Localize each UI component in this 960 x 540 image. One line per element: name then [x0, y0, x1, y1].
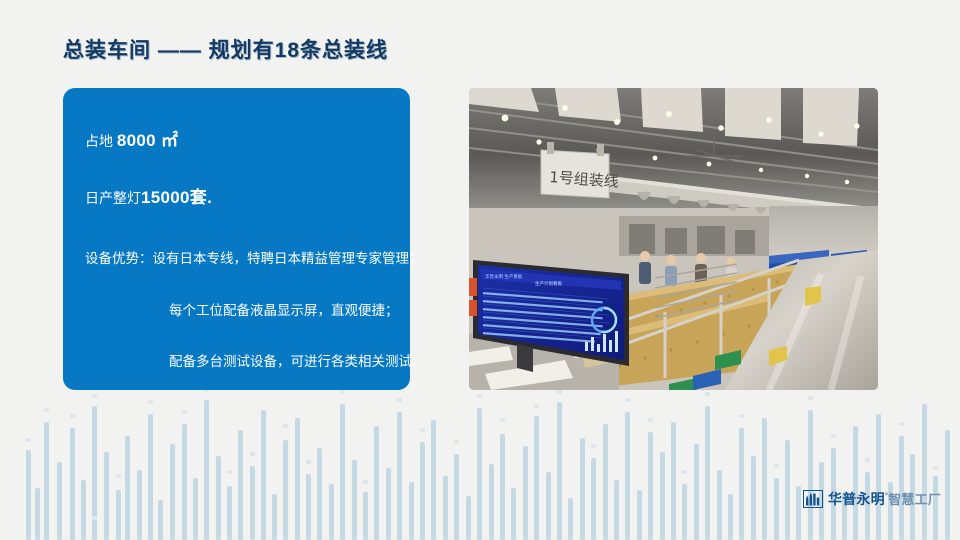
- decor-tick: [591, 444, 596, 448]
- decor-bar: [204, 400, 209, 540]
- decor-bar: [250, 466, 255, 540]
- decor-bar: [374, 426, 379, 540]
- decor-tick: [534, 404, 539, 408]
- decor-bar: [116, 490, 121, 540]
- decor-bar: [648, 432, 653, 540]
- decor-tick: [306, 460, 311, 464]
- decor-bar: [762, 418, 767, 540]
- decor-bar: [728, 494, 733, 540]
- decor-bar: [443, 476, 448, 540]
- decor-bar: [774, 478, 779, 540]
- decor-bar: [363, 492, 368, 540]
- stat-floor-area-unit: ㎡: [156, 131, 178, 150]
- decor-tick: [26, 438, 31, 442]
- stat-daily-output-unit: 套.: [190, 188, 212, 207]
- decor-bar: [739, 428, 744, 540]
- factory-building-icon: [803, 490, 823, 508]
- decor-bar: [295, 418, 300, 540]
- decor-bar: [922, 404, 927, 540]
- decor-bar: [511, 488, 516, 540]
- advantages-block: 设备优势：设有日本专线，特聘日本精益管理专家管理； 每个工位配备液晶显示屏，直观…: [85, 252, 394, 369]
- decor-bar: [853, 426, 858, 540]
- brand-logo: 华普永明° 智慧工厂: [803, 488, 941, 510]
- decor-bar: [466, 496, 471, 540]
- decor-tick: [363, 480, 368, 484]
- decor-bar: [386, 468, 391, 540]
- decor-tick: [625, 398, 630, 402]
- decor-tick: [92, 516, 97, 520]
- decor-bar: [603, 424, 608, 540]
- decor-bar: [682, 484, 687, 540]
- decor-bar: [26, 450, 31, 540]
- decor-bar: [694, 444, 699, 540]
- decor-tick: [454, 440, 459, 444]
- decor-bar: [625, 412, 630, 540]
- stat-daily-output-value: 15000: [141, 188, 190, 207]
- decor-bar: [523, 446, 528, 540]
- decor-bar: [158, 500, 163, 540]
- decor-bar: [637, 490, 642, 540]
- decor-bar: [81, 480, 86, 540]
- brand-name: 华普永明°: [828, 492, 888, 506]
- decor-bar: [170, 444, 175, 540]
- stat-floor-area-value: 8000: [117, 131, 156, 150]
- stat-floor-area: 占地 8000 ㎡: [85, 132, 394, 149]
- decor-bar: [238, 430, 243, 540]
- decor-tick: [227, 470, 232, 474]
- decor-tick: [70, 414, 75, 418]
- info-panel: 占地 8000 ㎡ 日产整灯15000套. 设备优势：设有日本专线，特聘日本精益…: [63, 88, 410, 390]
- decor-bar: [193, 478, 198, 540]
- decor-bar: [92, 406, 97, 540]
- stat-daily-output: 日产整灯15000套.: [85, 189, 394, 206]
- decor-bar: [397, 412, 402, 540]
- decor-tick: [283, 424, 288, 428]
- decor-bar: [340, 404, 345, 540]
- decor-tick: [933, 466, 938, 470]
- decor-tick: [557, 390, 562, 394]
- decor-bar: [705, 406, 710, 540]
- page-title: 总装车间 —— 规划有18条总装线: [63, 34, 388, 64]
- decor-bar: [717, 470, 722, 540]
- decor-bar: [409, 482, 414, 540]
- decor-bar: [568, 498, 573, 540]
- decor-bar: [785, 440, 790, 540]
- decor-tick: [182, 410, 187, 414]
- decor-bar: [660, 452, 665, 540]
- decor-tick: [148, 400, 153, 404]
- decor-bar: [751, 456, 756, 540]
- decor-tick: [682, 470, 687, 474]
- decor-bar: [477, 408, 482, 540]
- decor-bar: [945, 430, 950, 540]
- decorative-bar-pattern: [0, 390, 960, 540]
- factory-photo-illustration: 1号组装线: [469, 88, 878, 390]
- decor-bar: [227, 486, 232, 540]
- decor-bar: [876, 414, 881, 540]
- decor-bar: [489, 464, 494, 540]
- decor-tick: [831, 434, 836, 438]
- decor-tick: [44, 408, 49, 412]
- decor-bar: [216, 456, 221, 540]
- decor-tick: [705, 392, 710, 396]
- decor-tick: [204, 390, 209, 392]
- decor-tick: [116, 474, 121, 478]
- factory-photo: 1号组装线: [469, 88, 878, 390]
- decor-tick: [340, 390, 345, 394]
- decor-tick: [92, 394, 97, 398]
- decor-bar: [125, 436, 130, 540]
- decor-bar: [137, 470, 142, 540]
- decor-bar: [420, 442, 425, 540]
- stat-daily-output-prefix: 日产整灯: [85, 190, 141, 206]
- advantage-item-2: 每个工位配备液晶显示屏，直观便捷；: [85, 304, 394, 318]
- decor-bar: [591, 458, 596, 540]
- decor-bar: [104, 452, 109, 540]
- decor-bar: [352, 460, 357, 540]
- slide-root: 总装车间 —— 规划有18条总装线 占地 8000 ㎡ 日产整灯15000套. …: [0, 0, 960, 540]
- decor-bar: [808, 410, 813, 540]
- decor-bar: [557, 402, 562, 540]
- decor-bar: [182, 424, 187, 540]
- decor-bar: [317, 448, 322, 540]
- decor-bar: [500, 434, 505, 540]
- display-board-title: 生产计划看板: [535, 280, 562, 287]
- decor-tick: [774, 464, 779, 468]
- stat-floor-area-prefix: 占地: [85, 133, 117, 149]
- decor-tick: [250, 452, 255, 456]
- decor-tick: [808, 396, 813, 400]
- decor-bar: [546, 472, 551, 540]
- brand-sub: 智慧工厂: [888, 493, 941, 506]
- decor-bar: [148, 414, 153, 540]
- decor-bar: [44, 422, 49, 540]
- advantage-item-1: 设备优势：设有日本专线，特聘日本精益管理专家管理；: [85, 252, 394, 266]
- decor-bar: [329, 484, 334, 540]
- decor-bar: [70, 428, 75, 540]
- decor-tick: [865, 458, 870, 462]
- decor-bar: [306, 474, 311, 540]
- decor-bar: [272, 494, 277, 540]
- decor-bar: [261, 410, 266, 540]
- decor-tick: [648, 418, 653, 422]
- svg-text:华普永明 生产看板: 华普永明 生产看板: [485, 273, 523, 280]
- decor-bar: [283, 440, 288, 540]
- decor-bar: [580, 438, 585, 540]
- decor-tick: [397, 398, 402, 402]
- decor-bar: [534, 416, 539, 540]
- decor-tick: [899, 422, 904, 426]
- decor-tick: [739, 414, 744, 418]
- decor-tick: [500, 418, 505, 422]
- decor-tick: [420, 428, 425, 432]
- decor-bar: [35, 488, 40, 540]
- decor-bar: [431, 420, 436, 540]
- decor-bar: [671, 422, 676, 540]
- advantage-item-3: 配备多台测试设备，可进行各类相关测试。: [85, 355, 394, 369]
- decor-tick: [477, 394, 482, 398]
- decor-bar: [454, 454, 459, 540]
- decor-bar: [57, 462, 62, 540]
- decor-bar: [796, 486, 801, 540]
- brand-name-text: 华普永明: [828, 491, 885, 507]
- decor-bar: [614, 480, 619, 540]
